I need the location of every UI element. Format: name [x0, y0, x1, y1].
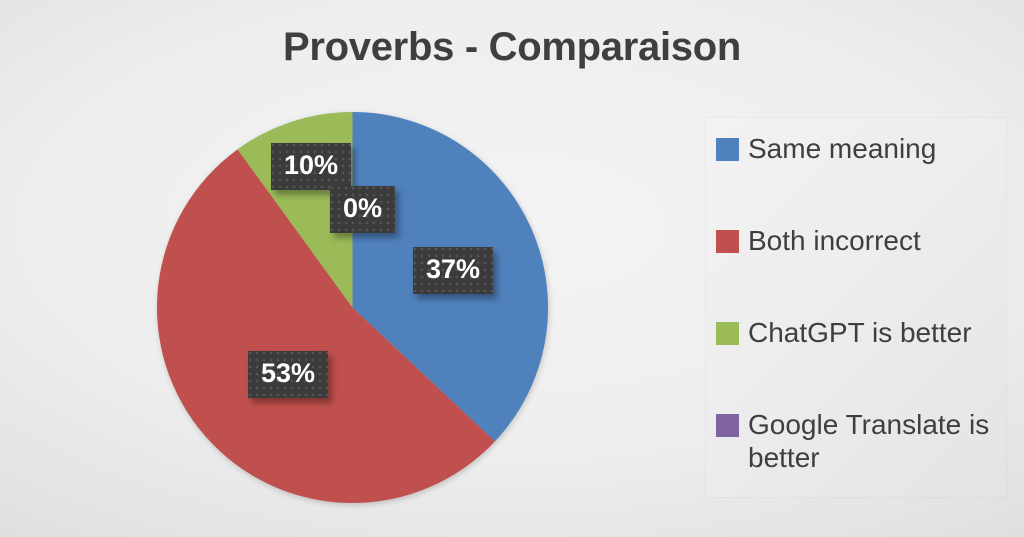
page-title: Proverbs - Comparaison	[0, 25, 1024, 70]
legend-swatch-icon	[716, 414, 739, 437]
legend-item-label: ChatGPT is better	[748, 316, 972, 349]
pie-chart-svg	[157, 112, 548, 503]
legend-item-label: Both incorrect	[748, 224, 921, 257]
legend-item-chatgpt-is-better[interactable]: ChatGPT is better	[716, 316, 1004, 349]
chart-legend: Same meaning Both incorrect ChatGPT is b…	[706, 118, 1006, 497]
legend-swatch-icon	[716, 138, 739, 161]
legend-item-same-meaning[interactable]: Same meaning	[716, 132, 1004, 165]
data-label-chatgpt-is-better: 10%	[271, 143, 351, 190]
legend-item-label: Google Translate is better	[748, 408, 1004, 474]
legend-swatch-icon	[716, 322, 739, 345]
legend-item-google-translate-is-better[interactable]: Google Translate is better	[716, 408, 1004, 474]
pie-chart	[157, 112, 548, 503]
legend-item-both-incorrect[interactable]: Both incorrect	[716, 224, 1004, 257]
legend-swatch-icon	[716, 230, 739, 253]
slide-canvas: Proverbs - Comparaison 10% 0% 37% 53% Sa…	[0, 0, 1024, 537]
data-label-both-incorrect: 53%	[248, 351, 328, 398]
legend-item-label: Same meaning	[748, 132, 936, 165]
data-label-google-translate-is-better: 0%	[330, 186, 395, 233]
data-label-same-meaning: 37%	[413, 247, 493, 294]
